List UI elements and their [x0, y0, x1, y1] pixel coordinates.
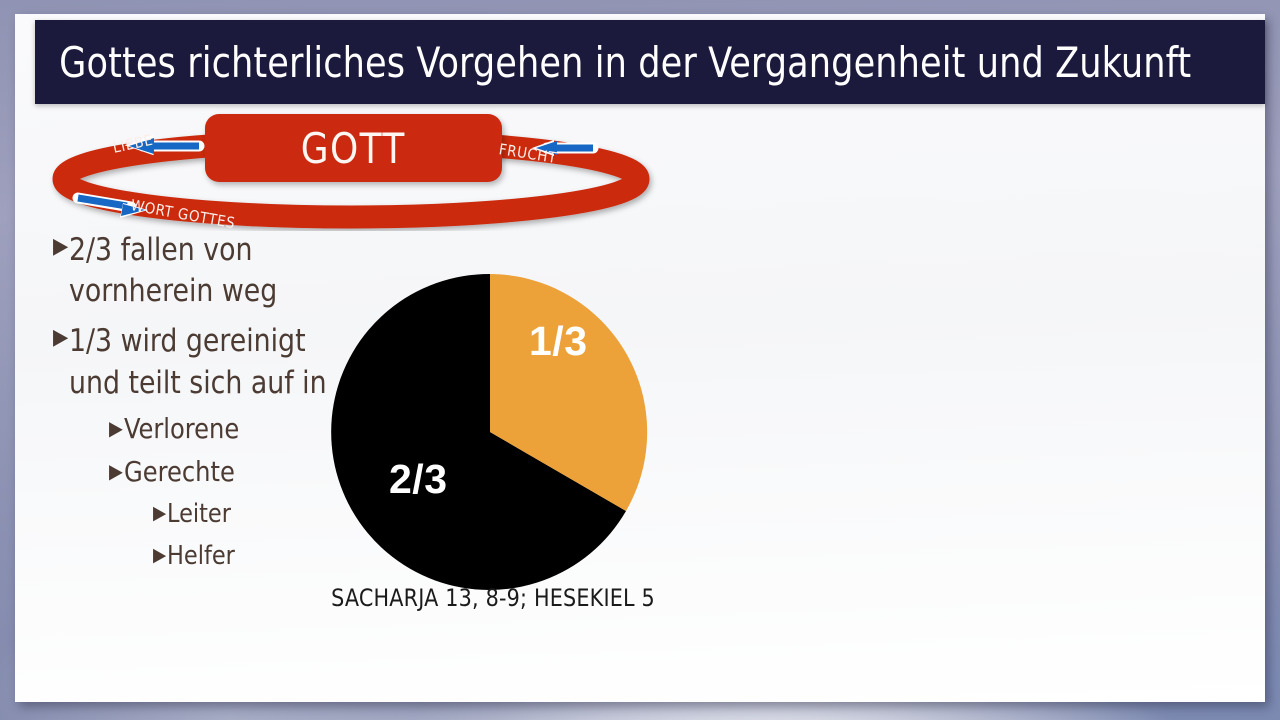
triangle-bullet-icon: ▶	[153, 546, 166, 565]
bullet-item-label: Verlorene	[124, 412, 239, 445]
bullet-item-3: ▶ Verlorene	[109, 412, 353, 445]
cycle-diagram: GOTT LIEBE FRUCHT WORT GOTTES	[31, 106, 671, 231]
pie-chart: 1/3 2/3 SACHARJA 13, 8-9; HESEKIEL 5	[318, 260, 668, 640]
pie-label-two-thirds: 2/3	[389, 456, 448, 503]
slide-title-bar: Gottes richterliches Vorgehen in der Ver…	[35, 20, 1265, 104]
bullet-list: ▶ 2/3 fallen von vornherein weg ▶ 1/3 wi…	[53, 230, 353, 572]
gott-box: GOTT	[205, 114, 502, 182]
page-title: Gottes richterliches Vorgehen in der Ver…	[35, 38, 1191, 87]
bullet-item-label: 2/3 fallen von vornherein weg	[69, 230, 341, 312]
gott-label: GOTT	[301, 124, 406, 173]
bullet-item-2: ▶ 1/3 wird gereinigt und teilt sich auf …	[53, 321, 353, 403]
triangle-bullet-icon: ▶	[153, 504, 166, 523]
triangle-bullet-icon: ▶	[109, 461, 123, 481]
bullet-item-label: 1/3 wird gereinigt und teilt sich auf in	[69, 321, 341, 403]
bullet-item-label: Helfer	[167, 541, 235, 571]
triangle-bullet-icon: ▶	[109, 418, 123, 438]
bullet-item-label: Leiter	[167, 499, 231, 529]
presentation-slide: Gottes richterliches Vorgehen in der Ver…	[15, 14, 1265, 702]
bullet-item-4: ▶ Gerechte	[109, 455, 353, 488]
bullet-item-1: ▶ 2/3 fallen von vornherein weg	[53, 230, 353, 312]
bullet-item-label: Gerechte	[124, 455, 235, 488]
pie-chart-svg	[318, 260, 648, 590]
triangle-bullet-icon: ▶	[53, 236, 68, 258]
pie-label-one-third: 1/3	[529, 318, 588, 365]
chart-caption: SACHARJA 13, 8-9; HESEKIEL 5	[325, 584, 661, 612]
slide-stage: Gottes richterliches Vorgehen in der Ver…	[0, 0, 1280, 720]
triangle-bullet-icon: ▶	[53, 327, 68, 349]
